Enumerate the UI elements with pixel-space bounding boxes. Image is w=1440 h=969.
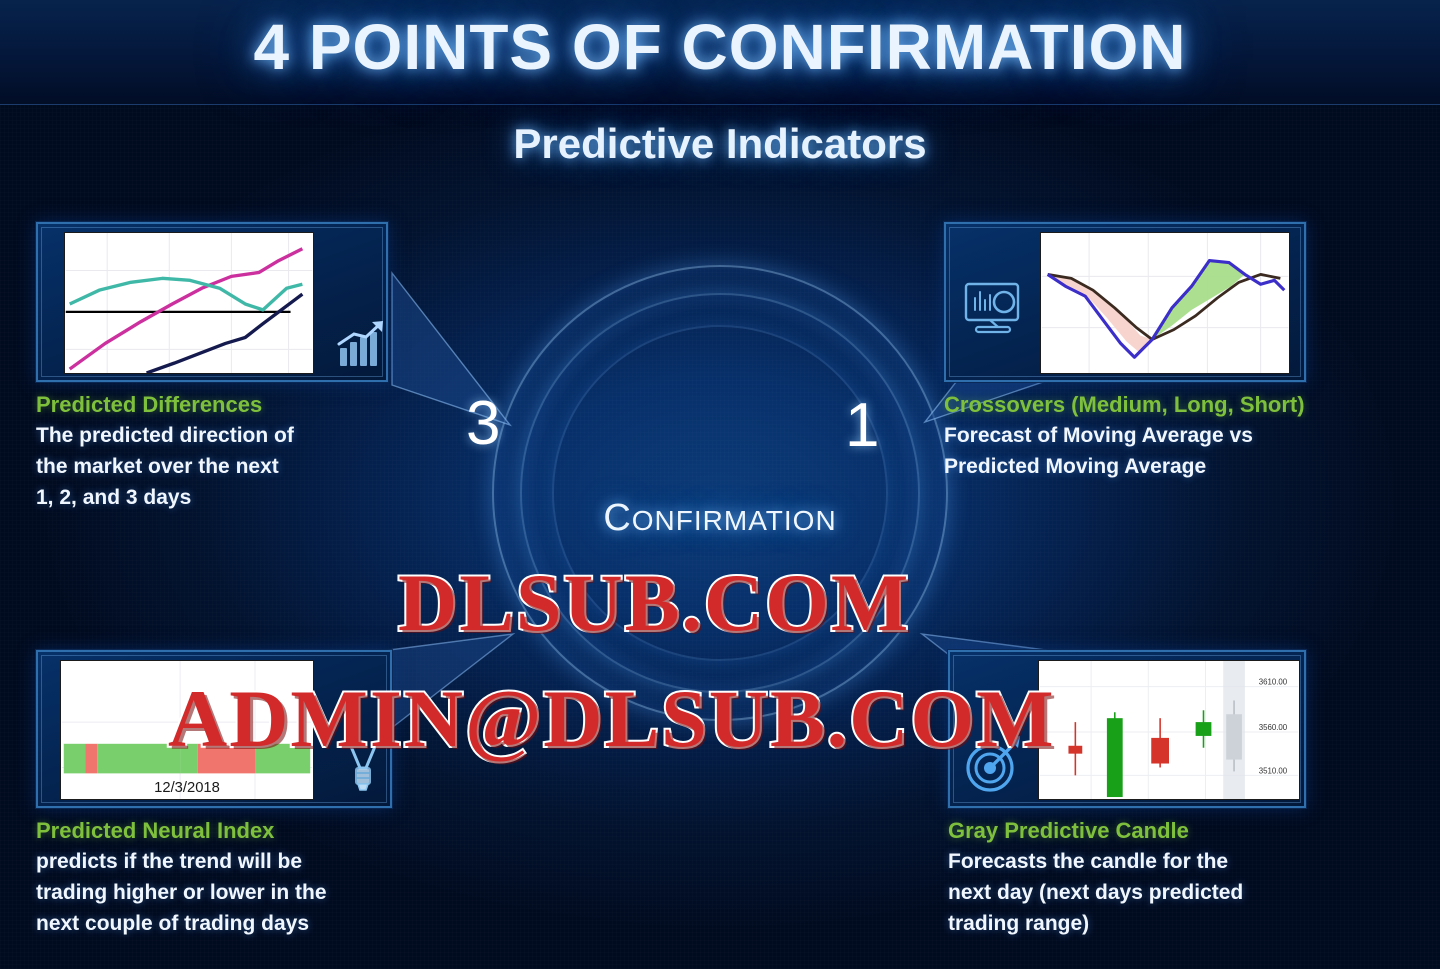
candle-2 [1107,712,1123,797]
step-number-3: 3 [466,388,500,459]
page-title: 4 POINTS OF CONFIRMATION [0,10,1440,84]
card-body-line: predicts if the trend will be [36,846,436,877]
card-heading-gray-predictive-candle: Gray Predictive Candle [948,818,1408,844]
price-tick-label: 3510.00 [1259,766,1288,775]
confirmation-label-cap: C [603,497,631,539]
card-body-line: Forecasts the candle for the [948,846,1408,877]
confirmation-label: CONFIRMATION [492,497,948,540]
thumbnail-crossovers [944,222,1306,382]
card-body-line: the market over the next [36,451,426,482]
gray-predictive-candle-chart: 3610.00 3560.00 3510.00 [1038,660,1300,800]
card-crossovers[interactable]: Crossovers (Medium, Long, Short) Forecas… [944,222,1414,482]
chart-date-label: 12/3/2018 [154,780,220,796]
card-body-line: The predicted direction of [36,420,426,451]
crossovers-chart [1040,232,1290,374]
card-heading-predicted-neural-index: Predicted Neural Index [36,818,436,844]
card-body-predicted-differences: The predicted direction of the market ov… [36,420,426,513]
card-body-line: next day (next days predicted [948,877,1408,908]
card-heading-crossovers: Crossovers (Medium, Long, Short) [944,392,1414,418]
watermark-site-url: DLSUB.COM [398,556,910,650]
step-number-1: 1 [845,390,879,461]
monitor-chart-icon [962,280,1026,338]
bar-chart-trend-icon [334,316,390,372]
price-tick-label: 3610.00 [1259,678,1288,687]
card-body-line: next couple of trading days [36,908,436,939]
card-body-line: 1, 2, and 3 days [36,482,426,513]
card-body-predicted-neural-index: predicts if the trend will be trading hi… [36,846,436,939]
watermark-email: ADMIN@DLSUB.COM [168,672,1056,766]
card-body-crossovers: Forecast of Moving Average vs Predicted … [944,420,1414,482]
card-body-line: trading higher or lower in the [36,877,436,908]
card-body-gray-predictive-candle: Forecasts the candle for the next day (n… [948,846,1408,939]
card-body-line: Forecast of Moving Average vs [944,420,1414,451]
price-tick-label: 3560.00 [1259,723,1288,732]
confirmation-ring-group: CONFIRMATION [492,265,948,721]
card-predicted-differences[interactable]: Predicted Differences The predicted dire… [36,222,426,513]
card-heading-predicted-differences: Predicted Differences [36,392,426,418]
page-subtitle: Predictive Indicators [0,120,1440,168]
card-body-line: trading range) [948,908,1408,939]
predicted-differences-chart [64,232,314,374]
thumbnail-predicted-differences [36,222,388,382]
card-body-line: Predicted Moving Average [944,451,1414,482]
confirmation-label-rest: ONFIRMATION [632,505,837,536]
